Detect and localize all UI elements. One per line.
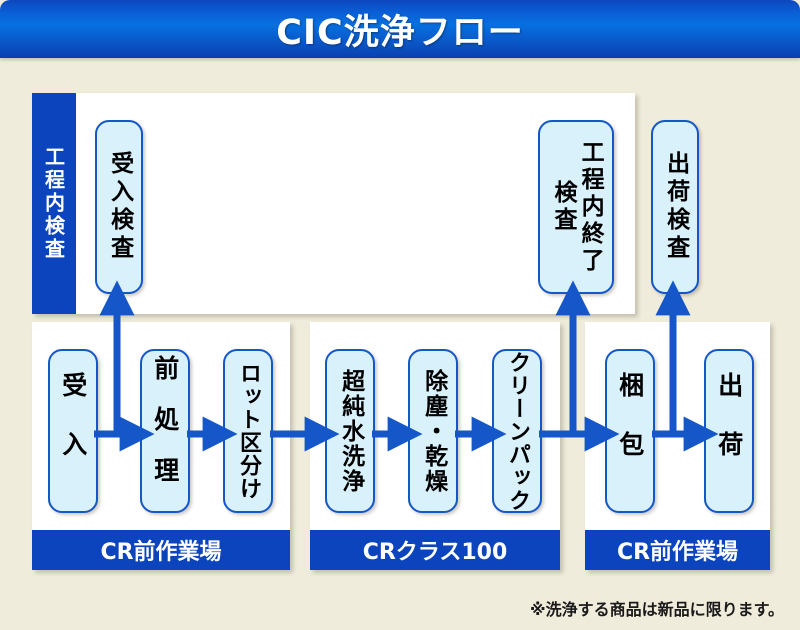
step-shipping-box[interactable]: 出荷 [704, 349, 754, 513]
step-clean-pack-label: クリーンパック [504, 351, 530, 512]
group-1-footer-label: CR前作業場 [100, 534, 221, 566]
shipping-inspection-label: 出荷検査 [661, 151, 688, 263]
step-packing-box[interactable]: 梱包 [605, 349, 655, 513]
process-end-inspection-label-right: 工程内終了 [576, 140, 603, 275]
group-1-footer: CR前作業場 [32, 530, 290, 570]
process-end-inspection-label-left: 検査 [549, 180, 576, 234]
page-title: CIC洗浄フロー [0, 0, 800, 58]
step-pretreatment-box[interactable]: 前処理 [140, 349, 190, 513]
receiving-inspection-label: 受入検査 [105, 151, 132, 263]
step-dust-removal-drying-box[interactable]: 除塵・乾燥 [408, 349, 458, 513]
receiving-inspection-box[interactable]: 受入検査 [95, 120, 143, 294]
step-receiving-box[interactable]: 受入 [48, 349, 98, 513]
step-dust-removal-drying-label: 除塵・乾燥 [419, 369, 446, 494]
step-ultrapure-water-cleaning-label: 超純水洗浄 [336, 369, 363, 494]
group-2-footer-label: CRクラス100 [363, 534, 508, 566]
step-packing-label: 梱包 [615, 372, 645, 490]
step-lot-sorting-label: ロット区分け [235, 362, 261, 500]
shipping-inspection-box[interactable]: 出荷検査 [651, 120, 699, 294]
step-clean-pack-box[interactable]: クリーンパック [492, 349, 542, 513]
group-2-footer: CRクラス100 [310, 530, 560, 570]
step-shipping-label: 出荷 [714, 372, 744, 490]
inspection-section-label-text: 工程内検査 [40, 146, 69, 261]
step-receiving-label: 受入 [58, 372, 88, 490]
step-ultrapure-water-cleaning-box[interactable]: 超純水洗浄 [325, 349, 375, 513]
group-3-footer: CR前作業場 [585, 530, 770, 570]
footnote: ※洗浄する商品は新品に限ります。 [530, 596, 784, 620]
step-pretreatment-label: 前処理 [150, 355, 180, 508]
inspection-section-label: 工程内検査 [32, 93, 76, 314]
step-lot-sorting-box[interactable]: ロット区分け [223, 349, 273, 513]
process-end-inspection-box[interactable]: 検査 工程内終了 [538, 120, 614, 294]
group-3-footer-label: CR前作業場 [617, 534, 738, 566]
